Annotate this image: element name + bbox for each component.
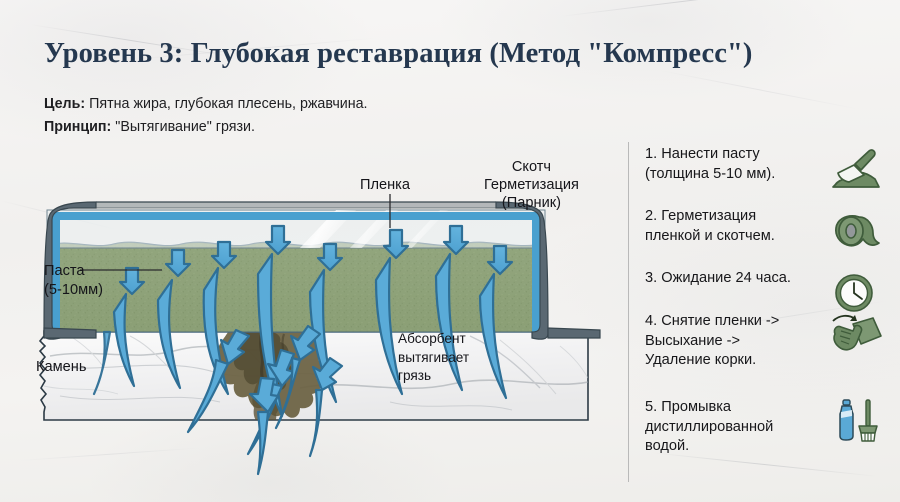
step-item-2: 2. Герметизация пленкой и скотчем. [645,207,900,257]
goal-line: Цель: Пятна жира, глубокая плесень, ржав… [44,95,368,112]
principle-line: Принцип: "Вытягивание" грязи. [44,118,255,135]
label-film: Пленка [360,176,410,194]
panel-divider [628,142,629,482]
marble-vein [560,0,808,17]
label-tape: Скотч Герметизация (Парник) [484,158,579,212]
label-stone: Камень [36,358,86,376]
trowel-icon [829,145,885,195]
step-1-text: 1. Нанести пасту (толщина 5-10 мм). [645,145,827,184]
step-4-text: 4. Снятие пленки -> Высыхание -> Удалени… [645,312,827,371]
step-item-1: 1. Нанести пасту (толщина 5-10 мм). [645,145,900,195]
step-5-text: 5. Промывка дистиллированной водой. [645,398,827,457]
page-title: Уровень 3: Глубокая реставрация (Метод "… [44,38,752,70]
step-2-text: 2. Герметизация пленкой и скотчем. [645,207,827,246]
marble-vein [660,70,857,109]
principle-text: "Вытягивание" грязи. [111,118,255,135]
goal-text: Пятна жира, глубокая плесень, ржавчина. [85,95,367,112]
bottle-brush-icon [829,396,885,446]
label-absorbent: Абсорбент вытягивает грязь [398,330,469,386]
hand-cloth-icon [829,310,885,360]
label-paste: Паста (5-10мм) [44,262,103,299]
step-3-text: 3. Ожидание 24 часа. [645,269,827,289]
tape-roll-icon [829,207,885,257]
goal-label: Цель: [44,95,85,112]
principle-label: Принцип: [44,118,111,135]
step-item-4: 4. Снятие пленки -> Высыхание -> Удалени… [645,312,900,371]
step-item-5: 5. Промывка дистиллированной водой. [645,398,900,457]
